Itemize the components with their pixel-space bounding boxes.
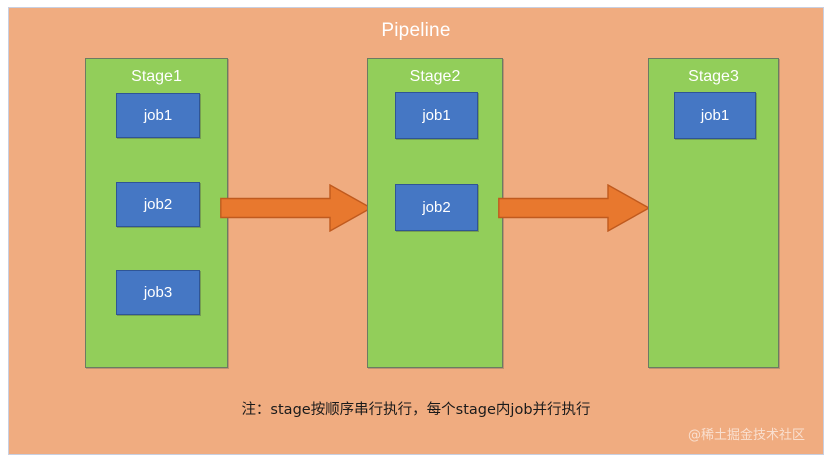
arrow-stage1-to-stage2 [220,184,372,232]
job-label: job2 [144,196,172,214]
job-label: job1 [701,107,729,125]
job-box-stage2-job1: job1 [395,92,478,139]
job-label: job1 [144,107,172,125]
job-box-stage1-job1: job1 [116,93,200,138]
stage-box-3: Stage3 job1 [648,58,779,368]
stage-title-1: Stage1 [86,67,227,86]
stage-box-1: Stage1 job1 job2 job3 [85,58,228,368]
pipeline-container: Pipeline Stage1 job1 job2 job3 Stage2 jo… [8,7,824,455]
diagram-caption: 注：stage按顺序串行执行，每个stage内job并行执行 [9,400,823,420]
job-label: job1 [422,107,450,125]
job-label: job3 [144,284,172,302]
job-box-stage1-job3: job3 [116,270,200,315]
job-box-stage3-job1: job1 [674,92,756,139]
job-box-stage2-job2: job2 [395,184,478,231]
watermark: @稀土掘金技术社区 [688,428,805,444]
stage-title-2: Stage2 [368,67,502,86]
stage-box-2: Stage2 job1 job2 [367,58,503,368]
stage-title-3: Stage3 [649,67,778,86]
arrow-stage2-to-stage3 [498,184,650,232]
job-box-stage1-job2: job2 [116,182,200,227]
pipeline-title: Pipeline [9,20,823,42]
job-label: job2 [422,199,450,217]
diagram-canvas: Pipeline Stage1 job1 job2 job3 Stage2 jo… [0,0,832,468]
